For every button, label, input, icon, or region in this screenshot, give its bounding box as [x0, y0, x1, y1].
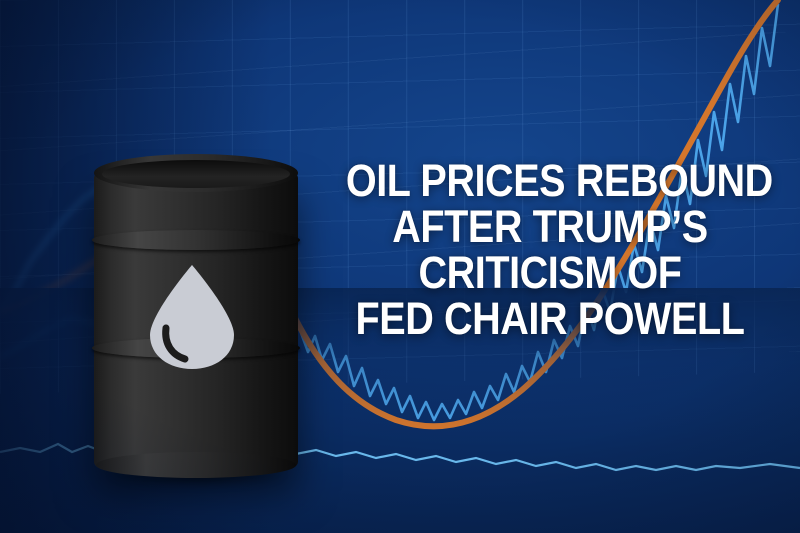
barrel-rib-upper: [92, 230, 300, 250]
oil-barrel: [88, 152, 304, 482]
barrel-top-lid: [102, 160, 290, 188]
oil-drop-icon: [144, 262, 240, 372]
headline-line-1: OIL PRICES REBOUND: [346, 158, 754, 204]
headline-line-3: CRITICISM OF: [346, 250, 754, 296]
news-graphic: OIL PRICES REBOUND AFTER TRUMP’S CRITICI…: [0, 0, 800, 533]
barrel-bottom-rim: [96, 452, 296, 478]
headline-line-2: AFTER TRUMP’S: [346, 204, 754, 250]
oil-drop-shape: [150, 265, 234, 369]
headline-line-4: FED CHAIR POWELL: [346, 296, 754, 342]
headline: OIL PRICES REBOUND AFTER TRUMP’S CRITICI…: [346, 158, 754, 342]
